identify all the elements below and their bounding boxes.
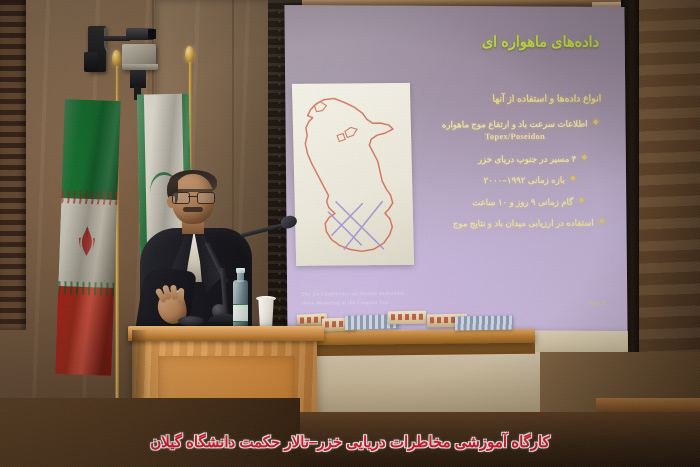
bullet-marker-icon: ❖ bbox=[599, 217, 606, 228]
slide-footer-line-2: Wave Modeling in the Caspian Sea bbox=[301, 298, 405, 308]
slide-page-number: Page 9 bbox=[587, 300, 605, 307]
caspian-sea-map-svg bbox=[292, 83, 414, 266]
wall-slat-panel bbox=[0, 0, 26, 330]
water-bottle bbox=[233, 268, 248, 332]
striped-package bbox=[455, 315, 513, 330]
bullet-subtext: Topex/Poseidon bbox=[442, 131, 588, 144]
flag-iran-kufic-top bbox=[61, 190, 117, 205]
paper-cup bbox=[257, 298, 275, 328]
slide-subtitle: انواع داده‌ها و استفاده از آنها bbox=[492, 92, 601, 104]
bullet-text: گام زمانی ۹ روز و ۱۰ ساعت bbox=[472, 195, 573, 208]
bullet-marker-icon: ❖ bbox=[578, 195, 585, 206]
flag-iran bbox=[55, 99, 121, 376]
page-value: 9 bbox=[602, 300, 605, 307]
conference-photograph: داده‌های ماهواره ای انواع داده‌ها و استف… bbox=[0, 0, 700, 467]
page-label: Page bbox=[587, 300, 600, 307]
bottle-label bbox=[233, 304, 248, 322]
bullet-text: بازه زمانی ۱۹۹۲–۲۰۰۰ bbox=[484, 174, 565, 187]
speaker-moustache bbox=[183, 207, 203, 212]
slide-title: داده‌های ماهواره ای bbox=[481, 34, 599, 50]
caspian-sea-map-figure bbox=[292, 83, 414, 266]
bullet-text: ۴ مسیر در جنوب دریای خزر bbox=[478, 152, 577, 165]
eyeglasses-icon bbox=[172, 192, 214, 202]
packaged-box bbox=[388, 311, 426, 325]
microphone-desk-plate bbox=[178, 316, 204, 326]
speaker-finger bbox=[178, 288, 185, 303]
photo-caption: کارگاه آموزشی مخاطرات دریایی خزر–تالار ح… bbox=[0, 433, 700, 451]
bullet-marker-icon: ❖ bbox=[570, 174, 577, 185]
camera-lens-hood bbox=[148, 29, 156, 39]
eyeglass-lens-left bbox=[172, 192, 190, 204]
eyeglass-bridge bbox=[188, 196, 197, 197]
spotlight-housing-icon bbox=[84, 52, 98, 72]
stage-rail bbox=[596, 398, 700, 412]
bullet-marker-icon: ❖ bbox=[592, 118, 599, 129]
flag-iran-red-band bbox=[55, 286, 114, 376]
flagpole-finial-icon bbox=[112, 50, 121, 66]
side-table bbox=[300, 329, 535, 345]
flagpole-finial-icon bbox=[185, 46, 194, 62]
slide-footer: The 1st Conference on Marine Industries … bbox=[301, 290, 405, 308]
bullet-text: اطلاعات سرعت باد و ارتفاع موج ماهواره bbox=[442, 119, 588, 130]
projection-screen: داده‌های ماهواره ای انواع داده‌ها و استف… bbox=[284, 5, 627, 337]
podium-desktop bbox=[128, 326, 324, 341]
flag-iran-kufic-bottom bbox=[58, 280, 114, 295]
box-label bbox=[300, 316, 324, 323]
flag-iran-emblem-icon bbox=[75, 223, 98, 258]
slide-footer-line-1: The 1st Conference on Marine Industries bbox=[301, 290, 405, 300]
bullet-text: استفاده در ارزیابی میدان باد و نتایج موج bbox=[453, 217, 594, 230]
eyeglass-lens-right bbox=[197, 192, 215, 204]
bullet-marker-icon: ❖ bbox=[581, 152, 588, 163]
box-label bbox=[391, 314, 423, 321]
